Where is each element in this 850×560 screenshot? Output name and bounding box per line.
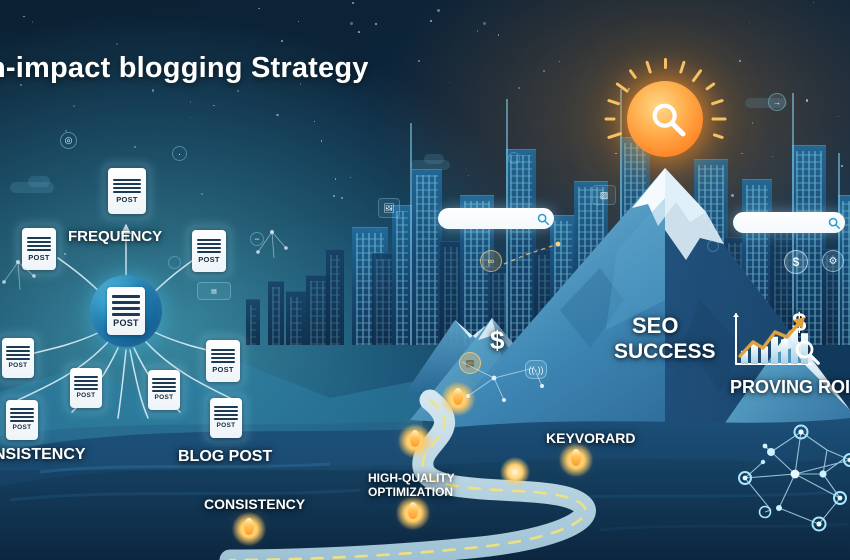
post-node[interactable]: POST [65, 363, 107, 413]
document-icon: POST [70, 368, 102, 408]
label-high-quality-line1: HIGH-QUALITY [368, 471, 455, 485]
label-consistency: CONSISTENCY [204, 496, 305, 512]
dot-icon [707, 240, 719, 252]
post-node[interactable]: POST [205, 393, 247, 443]
dollar-badge-icon: $ [784, 250, 808, 274]
post-node[interactable]: POST [143, 365, 185, 415]
doc-lines [10, 408, 33, 422]
flame-beacon-icon [408, 502, 418, 519]
post-node[interactable]: POST [1, 395, 43, 445]
post-node[interactable]: POST [187, 225, 231, 277]
label-consistency-left: NSISTENCY [0, 446, 86, 464]
post-node[interactable]: POST [0, 333, 39, 383]
image-icon: ▨ [592, 185, 616, 205]
network-graph-icon [735, 412, 850, 540]
badge-icon: ▤ [197, 282, 231, 300]
document-icon: POST [210, 398, 242, 438]
label-frequency: FREQUENCY [68, 228, 162, 245]
tag-icon: ◎ [60, 132, 77, 149]
label-seo-line2: SUCCESS [614, 340, 716, 364]
document-icon: POST [6, 400, 38, 440]
document-icon: POST [2, 338, 34, 378]
flame-beacon-icon [571, 449, 581, 466]
infographic-canvas: POSTPOSTPOSTPOSTPOSTPOSTPOSTPOSTPOST POS… [0, 0, 850, 560]
chart-bar [771, 337, 778, 364]
doc-lines [6, 346, 29, 360]
dashed-connector [500, 238, 570, 272]
doc-lines [113, 179, 140, 193]
flame-beacon-icon [410, 430, 420, 447]
doc-lines [74, 376, 97, 390]
label-blog-post: BLOG POST [178, 448, 272, 466]
doc-lines [211, 349, 235, 363]
link-icon: ∞ [480, 250, 502, 272]
post-node-label: POST [155, 395, 174, 402]
flame-beacon-icon [244, 518, 254, 535]
chart-bar [751, 344, 758, 364]
road-glow [500, 457, 530, 487]
dot-icon [168, 256, 181, 269]
dot-icon [508, 152, 520, 164]
post-hub-label: POST [113, 319, 139, 328]
post-node-label: POST [217, 423, 236, 430]
post-hub-node[interactable]: POST [90, 275, 162, 347]
label-high-quality-line2: OPTIMIZATION [368, 485, 453, 499]
post-node-label: POST [212, 366, 234, 374]
document-icon: POST [206, 340, 240, 382]
document-icon: POST [108, 168, 146, 214]
post-node-label: POST [13, 425, 32, 432]
label-seo-line1: SEO [632, 313, 678, 339]
doc-lines [197, 239, 221, 253]
image-icon: 🖼 [378, 198, 400, 218]
document-icon: POST [107, 287, 145, 335]
page-title: h-impact blogging Strategy [0, 52, 369, 85]
dollar-sign-icon: $ [490, 325, 504, 356]
magnifier-icon [792, 337, 822, 367]
arrow-right-icon: → [768, 93, 786, 111]
label-proving-roi: PROVING ROI [730, 377, 850, 398]
post-node-label: POST [198, 256, 220, 264]
dot-icon: · [172, 146, 187, 161]
doc-lines [27, 237, 51, 251]
post-node-label: POST [77, 393, 96, 400]
mini-node-cluster [0, 250, 48, 294]
label-keyword: KEYVORARD [546, 430, 635, 446]
gear-icon: ⚙ [822, 250, 844, 272]
mini-node-cluster [252, 218, 294, 262]
post-node[interactable]: POST [103, 163, 151, 219]
doc-lines [112, 295, 139, 316]
chart-bar [781, 339, 788, 364]
post-node-label: POST [116, 196, 138, 204]
post-node[interactable]: POST [201, 335, 245, 387]
doc-lines [214, 406, 237, 420]
post-node-label: POST [9, 363, 28, 370]
document-icon: POST [148, 370, 180, 410]
doc-lines [152, 378, 175, 392]
document-icon: POST [192, 230, 226, 272]
